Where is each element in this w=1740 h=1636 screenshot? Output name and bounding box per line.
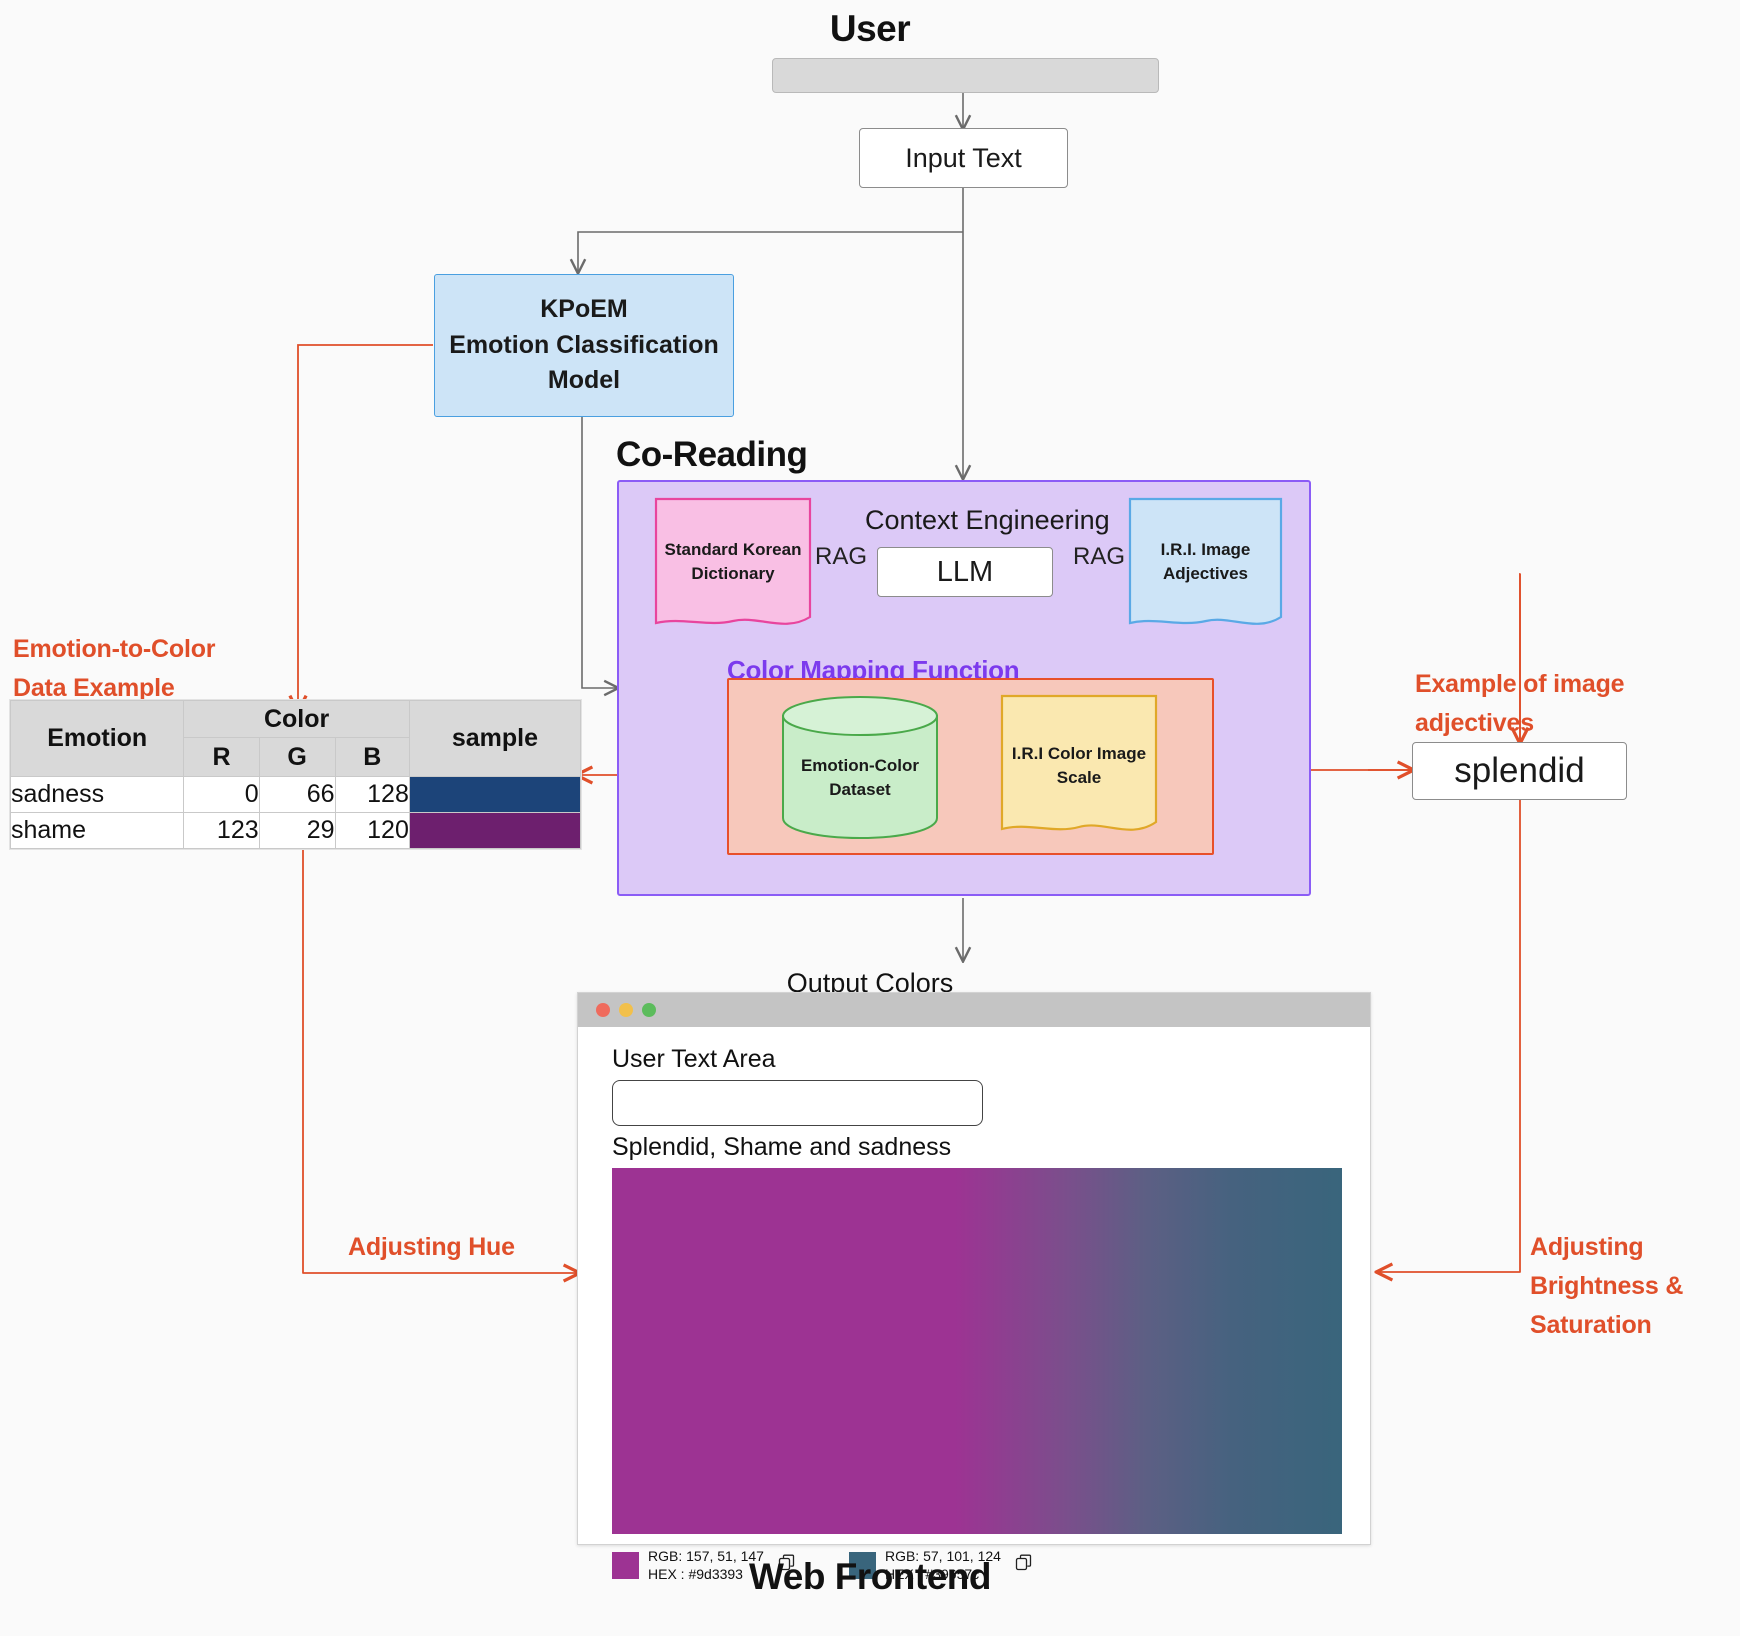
table-group-header-row: Emotion Color sample — [11, 701, 581, 738]
user-bar — [772, 58, 1159, 93]
iria-line-2: Adjectives — [1128, 562, 1283, 586]
browser-content: User Text Area Splendid, Shame and sadne… — [578, 1027, 1370, 1594]
iri-color-image-scale-label: I.R.I Color Image Scale — [1000, 742, 1158, 790]
abs-line-2: Brightness & — [1530, 1267, 1683, 1306]
eia-line-1: Example of image — [1415, 665, 1624, 704]
table-header-g: G — [259, 738, 335, 777]
icis-line-1: I.R.I Color Image — [1000, 742, 1158, 766]
iri-image-adjectives-label: I.R.I. Image Adjectives — [1128, 538, 1283, 586]
result-phrase-label: Splendid, Shame and sadness — [612, 1133, 1336, 1162]
table-header-r: R — [184, 738, 259, 777]
annotation-example-image-adjectives: Example of image adjectives — [1415, 665, 1624, 743]
color-gradient-preview — [612, 1168, 1342, 1534]
window-minimize-dot[interactable] — [619, 1003, 633, 1017]
page-title-user: User — [0, 8, 1740, 50]
emotion-color-dataset-cylinder: Emotion-Color Dataset — [780, 694, 940, 840]
iria-line-1: I.R.I. Image — [1128, 538, 1283, 562]
table-header-color-group: Color — [184, 701, 409, 738]
input-text-label: Input Text — [905, 143, 1022, 174]
standard-korean-dictionary-label: Standard Korean Dictionary — [654, 538, 812, 586]
llm-label: LLM — [937, 556, 993, 589]
llm-box: LLM — [877, 547, 1053, 597]
annotation-adjusting-brightness-saturation: Adjusting Brightness & Saturation — [1530, 1228, 1683, 1344]
emotion-color-dataset-label: Emotion-Color Dataset — [780, 754, 940, 802]
annotation-emotion-to-color: Emotion-to-Color Data Example — [13, 630, 215, 708]
standard-korean-dictionary-doc: Standard Korean Dictionary — [654, 497, 812, 632]
row-0-swatch — [409, 777, 580, 813]
skd-line-1: Standard Korean — [654, 538, 812, 562]
table-header-emotion: Emotion — [11, 701, 184, 777]
row-1-emotion: shame — [11, 813, 184, 849]
row-1-r: 123 — [184, 813, 259, 849]
kpoem-line-1: KPoEM — [540, 292, 628, 328]
iri-color-image-scale-doc: I.R.I Color Image Scale — [1000, 694, 1158, 840]
row-0-emotion: sadness — [11, 777, 184, 813]
splendid-label: splendid — [1454, 751, 1584, 791]
table-row: sadness 0 66 128 — [11, 777, 581, 813]
emotion-color-table: Emotion Color sample R G B sadness 0 66 … — [10, 700, 581, 849]
rag-right-label: RAG — [1073, 543, 1125, 571]
ecd-line-2: Dataset — [780, 778, 940, 802]
skd-line-2: Dictionary — [654, 562, 812, 586]
splendid-box: splendid — [1412, 742, 1627, 800]
row-1-b: 120 — [335, 813, 409, 849]
ecd-line-1: Emotion-Color — [780, 754, 940, 778]
window-close-dot[interactable] — [596, 1003, 610, 1017]
web-frontend-title: Web Frontend — [0, 1556, 1740, 1598]
kpoem-model-box: KPoEM Emotion Classification Model — [434, 274, 734, 417]
table-header-b: B — [335, 738, 409, 777]
web-frontend-window: User Text Area Splendid, Shame and sadne… — [577, 992, 1371, 1545]
row-0-b: 128 — [335, 777, 409, 813]
abs-line-3: Saturation — [1530, 1306, 1683, 1345]
abs-line-1: Adjusting — [1530, 1228, 1683, 1267]
kpoem-line-3: Model — [548, 363, 620, 399]
coreading-title: Co-Reading — [616, 435, 807, 475]
table-header-sample: sample — [409, 701, 580, 777]
browser-title-bar — [578, 993, 1370, 1027]
row-0-g: 66 — [259, 777, 335, 813]
etc-line-1: Emotion-to-Color — [13, 630, 215, 669]
user-text-area-input[interactable] — [612, 1080, 983, 1126]
rag-left-label: RAG — [815, 543, 867, 571]
row-1-swatch — [409, 813, 580, 849]
annotation-adjusting-hue: Adjusting Hue — [348, 1228, 515, 1267]
kpoem-line-2: Emotion Classification — [449, 328, 718, 364]
row-1-g: 29 — [259, 813, 335, 849]
window-maximize-dot[interactable] — [642, 1003, 656, 1017]
context-engineering-label: Context Engineering — [865, 505, 1110, 536]
input-text-box: Input Text — [859, 128, 1068, 188]
eia-line-2: adjectives — [1415, 704, 1624, 743]
user-text-area-label: User Text Area — [612, 1045, 1336, 1074]
icis-line-2: Scale — [1000, 766, 1158, 790]
row-0-r: 0 — [184, 777, 259, 813]
iri-image-adjectives-doc: I.R.I. Image Adjectives — [1128, 497, 1283, 632]
table-row: shame 123 29 120 — [11, 813, 581, 849]
